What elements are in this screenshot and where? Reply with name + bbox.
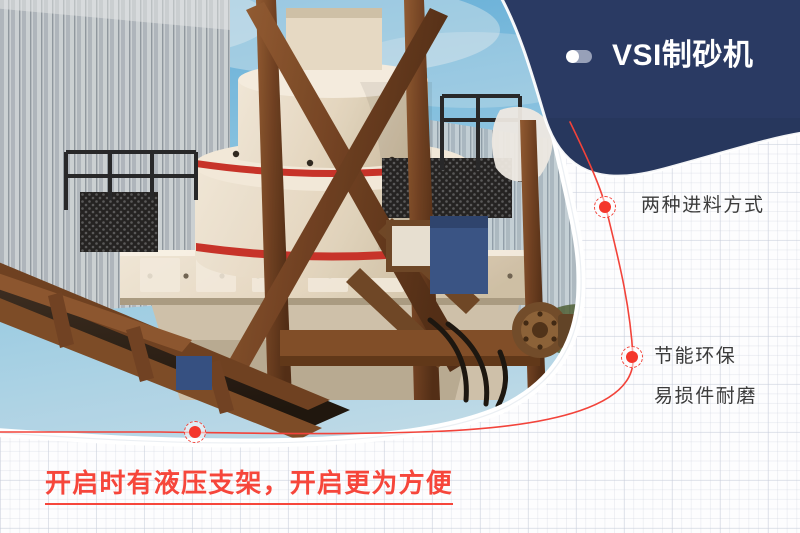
bottom-caption: 开启时有液压支架，开启更为方便 — [45, 469, 453, 505]
feature-label-0: 两种进料方式 — [641, 196, 765, 215]
pill-bullet-icon — [566, 50, 592, 63]
page-title: VSI制砂机 — [612, 41, 753, 71]
feature-label-2: 易损件耐磨 — [654, 387, 757, 406]
dot-core-icon — [189, 426, 201, 438]
header-title-row: VSI制砂机 — [566, 41, 753, 71]
feature-marker-dot-1[interactable] — [621, 346, 645, 370]
feature-label-1: 节能环保 — [654, 347, 736, 366]
caption-marker-dot[interactable] — [184, 421, 208, 445]
navy-header-blob — [0, 0, 800, 533]
banner-stage: VSI制砂机 两种进料方式 节能环保 易损件耐磨 开启时有液压支架，开启更为方便 — [0, 0, 800, 533]
feature-marker-dot-0[interactable] — [594, 196, 618, 220]
dot-core-icon — [599, 201, 611, 213]
dot-core-icon — [626, 351, 638, 363]
